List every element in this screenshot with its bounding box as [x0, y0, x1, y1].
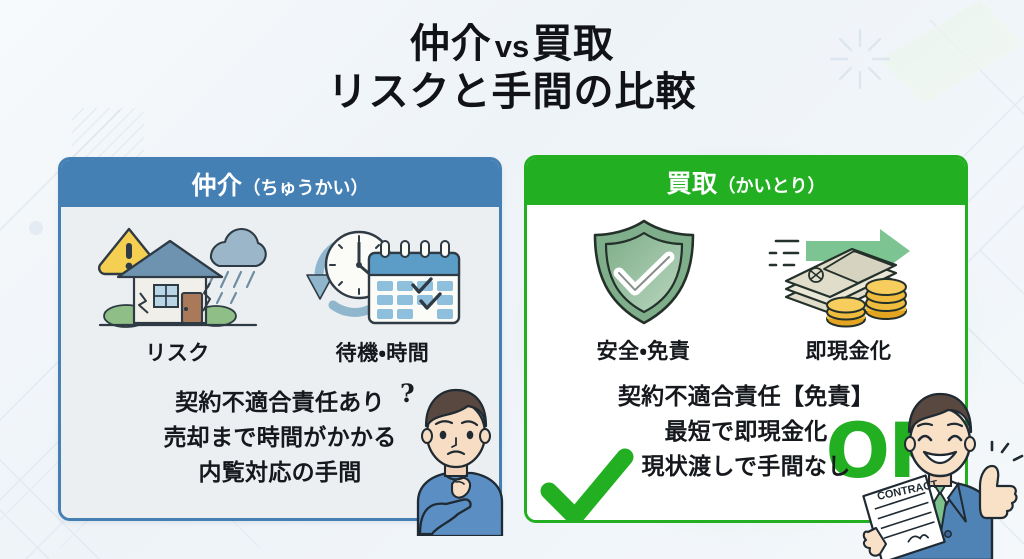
calendar-icon	[369, 241, 459, 323]
purchase-icon-cell-safety: 安全・免責	[549, 213, 739, 365]
panel-purchase-header-main: 買取	[666, 170, 717, 198]
mediation-icon-label-risk: リスク	[145, 337, 210, 367]
panel-mediation-header-kana: （ちゅうかい）	[243, 178, 369, 198]
mediation-icon-label-time: 待機・時間	[336, 337, 430, 367]
cash-coins-arrow-icon	[764, 213, 934, 329]
purchase-icon-row: 安全・免責	[527, 213, 965, 365]
mediation-icon-row: リスク	[61, 215, 499, 367]
clock-calendar-icon	[293, 215, 473, 331]
shield-check-icon	[569, 213, 719, 329]
purchase-icon-cell-cash: 即現金化	[754, 213, 944, 365]
title-purchase-word: 買取	[532, 22, 614, 66]
title-mediation-word: 仲介	[410, 22, 492, 66]
dot-decor	[29, 221, 43, 235]
panel-mediation-header: 仲介（ちゅうかい）	[61, 160, 499, 207]
question-mark-icon: ?	[400, 379, 415, 408]
purchase-icon-label-safety: 安全・免責	[597, 335, 691, 365]
title-line-2: リスクと手間の比較	[0, 69, 1024, 116]
damaged-house-warning-icon	[88, 215, 268, 331]
panel-purchase-header-text: 買取（かいとり）	[666, 164, 825, 200]
happy-businessman-illustration: CONTRACT	[856, 382, 1024, 559]
mediation-icon-cell-time: 待機・時間	[288, 215, 478, 367]
thumbs-up-icon	[980, 442, 1022, 518]
panel-mediation-header-text: 仲介（ちゅうかい）	[191, 166, 368, 202]
panel-mediation-header-main: 仲介	[191, 172, 242, 200]
mediation-icon-cell-risk: リスク	[83, 215, 273, 367]
speed-lines	[770, 241, 798, 265]
title-line-1: 仲介vs買取	[0, 22, 1024, 67]
page-title: 仲介vs買取 リスクと手間の比較	[0, 22, 1024, 116]
panel-purchase-header-kana: （かいとり）	[718, 176, 826, 196]
rain-cloud-icon	[208, 229, 266, 303]
panel-purchase-header: 買取（かいとり）	[527, 158, 965, 205]
worried-man-illustration	[398, 376, 514, 541]
title-vs-word: vs	[492, 29, 532, 64]
purchase-icon-label-cash: 即現金化	[806, 335, 892, 365]
